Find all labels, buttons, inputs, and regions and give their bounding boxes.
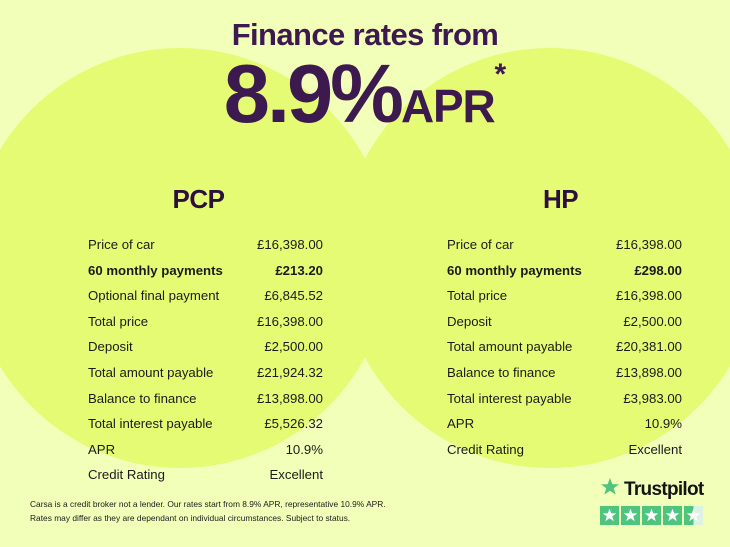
disclaimer: Carsa is a credit broker not a lender. O… [30, 498, 460, 525]
table-row: Optional final payment £6,845.52 [88, 283, 323, 309]
row-label: Total amount payable [88, 360, 213, 386]
row-label: APR [447, 411, 474, 437]
plan-pcp: PCP Price of car £16,398.00 60 monthly p… [0, 184, 365, 488]
headline-rate-value: 8.9% [224, 47, 401, 140]
row-value: £16,398.00 [616, 232, 682, 258]
row-value: £21,924.32 [257, 360, 323, 386]
finance-plans: PCP Price of car £16,398.00 60 monthly p… [0, 184, 730, 488]
plan-hp: HP Price of car £16,398.00 60 monthly pa… [365, 184, 730, 488]
headline-rate-suffix: APR [401, 80, 495, 132]
table-row: Total interest payable £5,526.32 [88, 411, 323, 437]
row-value: £213.20 [275, 258, 323, 284]
trustpilot-star-icon [600, 477, 620, 502]
table-row: Balance to finance £13,898.00 [88, 386, 323, 412]
disclaimer-line-2: Rates may differ as they are dependant o… [30, 512, 460, 526]
rating-star-icon [600, 506, 619, 525]
trustpilot-stars [600, 506, 708, 525]
row-label: APR [88, 437, 115, 463]
rating-star-icon [621, 506, 640, 525]
trustpilot-name: Trustpilot [624, 480, 704, 500]
table-row: Price of car £16,398.00 [447, 232, 682, 258]
row-value: £13,898.00 [616, 360, 682, 386]
table-row: 60 monthly payments £213.20 [88, 258, 323, 284]
table-row: Total interest payable £3,983.00 [447, 386, 682, 412]
row-value: £6,845.52 [264, 283, 323, 309]
row-value: Excellent [269, 462, 323, 488]
row-value: £2,500.00 [264, 334, 323, 360]
disclaimer-line-1: Carsa is a credit broker not a lender. O… [30, 498, 460, 512]
table-row: Price of car £16,398.00 [88, 232, 323, 258]
row-label: Credit Rating [447, 437, 524, 463]
row-value: £3,983.00 [623, 386, 682, 412]
row-value: £16,398.00 [616, 283, 682, 309]
trustpilot-wordmark: Trustpilot [600, 477, 708, 502]
row-label: Credit Rating [88, 462, 165, 488]
row-label: Total interest payable [447, 386, 572, 412]
row-value: £16,398.00 [257, 232, 323, 258]
table-row: Total price £16,398.00 [447, 283, 682, 309]
row-value: £2,500.00 [623, 309, 682, 335]
row-label: Price of car [447, 232, 514, 258]
row-value: £298.00 [634, 258, 682, 284]
row-value: £13,898.00 [257, 386, 323, 412]
row-label: 60 monthly payments [447, 258, 582, 284]
table-row: Deposit £2,500.00 [447, 309, 682, 335]
plan-rows-pcp: Price of car £16,398.00 60 monthly payme… [88, 232, 323, 488]
rating-star-icon [642, 506, 661, 525]
table-row: APR 10.9% [447, 411, 682, 437]
row-label: Total price [447, 283, 507, 309]
trustpilot-rating: Trustpilot [600, 477, 708, 525]
row-label: Total price [88, 309, 148, 335]
table-row: Total amount payable £21,924.32 [88, 360, 323, 386]
promo-banner: Finance rates from 8.9%APR* PCP Price of… [0, 0, 730, 547]
row-label: Optional final payment [88, 283, 219, 309]
headline-rate-asterisk: * [495, 58, 507, 91]
plan-rows-hp: Price of car £16,398.00 60 monthly payme… [447, 232, 682, 462]
header: Finance rates from 8.9%APR* [0, 16, 730, 160]
table-row: Deposit £2,500.00 [88, 334, 323, 360]
row-label: Total amount payable [447, 334, 572, 360]
row-value: 10.9% [645, 411, 682, 437]
plan-heading-pcp: PCP [88, 184, 323, 215]
table-row: APR 10.9% [88, 437, 323, 463]
headline-rate: 8.9%APR* [0, 52, 730, 160]
row-value: £20,381.00 [616, 334, 682, 360]
row-label: Balance to finance [88, 386, 197, 412]
table-row: 60 monthly payments £298.00 [447, 258, 682, 284]
row-value: Excellent [628, 437, 682, 463]
table-row: Balance to finance £13,898.00 [447, 360, 682, 386]
row-label: Price of car [88, 232, 155, 258]
plan-heading-hp: HP [447, 184, 682, 215]
row-label: Total interest payable [88, 411, 213, 437]
row-value: £16,398.00 [257, 309, 323, 335]
table-row: Credit Rating Excellent [88, 462, 323, 488]
table-row: Total amount payable £20,381.00 [447, 334, 682, 360]
table-row: Total price £16,398.00 [88, 309, 323, 335]
table-row: Credit Rating Excellent [447, 437, 682, 463]
row-label: Deposit [88, 334, 133, 360]
row-label: Balance to finance [447, 360, 556, 386]
row-label: Deposit [447, 309, 492, 335]
row-value: 10.9% [286, 437, 323, 463]
row-label: 60 monthly payments [88, 258, 223, 284]
row-value: £5,526.32 [264, 411, 323, 437]
rating-star-half-icon [684, 506, 703, 525]
rating-star-icon [663, 506, 682, 525]
